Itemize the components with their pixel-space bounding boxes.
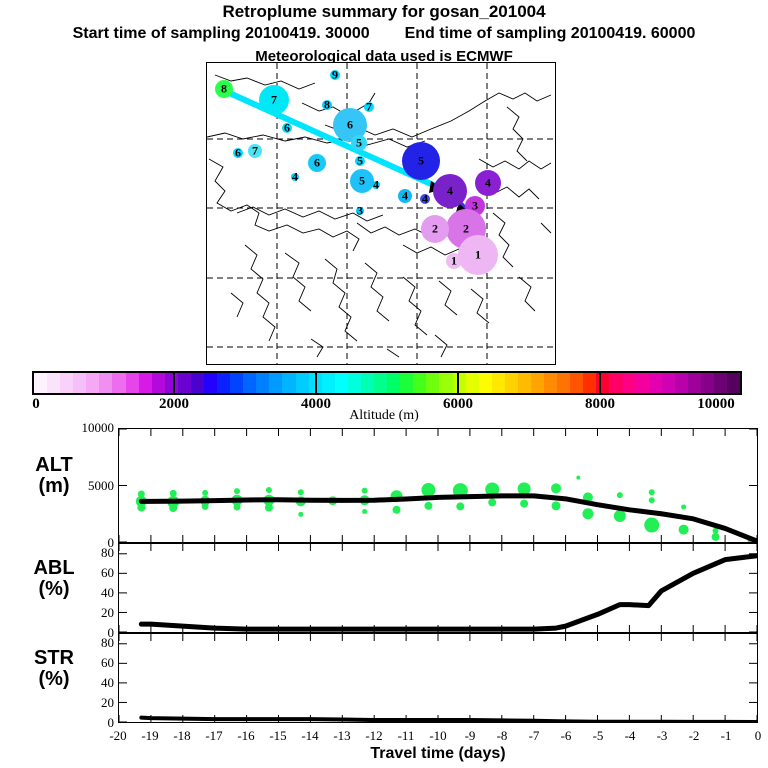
plume-day-label: 1 — [475, 248, 481, 263]
plume-day-label: 7 — [366, 100, 372, 115]
x-tick-label: -4 — [625, 728, 636, 744]
y-tick-label: 80 — [48, 545, 114, 561]
plume-day-label: 8 — [324, 98, 330, 113]
altitude-scatter-point — [234, 503, 241, 510]
colorbar-segment — [649, 373, 662, 393]
colorbar-segment — [439, 373, 452, 393]
plume-day-label: 6 — [284, 121, 290, 136]
x-tick-label: -16 — [237, 728, 254, 744]
x-tick-label: -11 — [398, 728, 415, 744]
plume-day-label: 4 — [292, 170, 298, 185]
x-tick-label: -20 — [109, 728, 126, 744]
y-tick-label: 60 — [48, 655, 114, 671]
x-tick-label: -17 — [205, 728, 222, 744]
altitude-scatter-point — [712, 533, 720, 541]
colorbar-gradient — [32, 371, 742, 395]
altitude-scatter-point — [362, 488, 368, 494]
alt-plot[interactable] — [118, 428, 758, 543]
x-axis-label: Travel time (days) — [118, 745, 758, 763]
retroplume-map[interactable]: 87987665676545453444432211 — [206, 62, 556, 365]
colorbar-segment — [243, 373, 256, 393]
x-tick-label: -12 — [365, 728, 382, 744]
plume-day-label: 3 — [357, 204, 363, 219]
y-tick-label: 40 — [48, 675, 114, 691]
altitude-scatter-point — [202, 490, 208, 496]
altitude-colorbar[interactable] — [32, 371, 742, 395]
colorbar-segment — [256, 373, 269, 393]
altitude-scatter-point — [582, 508, 593, 519]
plot-canvas — [119, 634, 757, 722]
colorbar-divider — [599, 371, 601, 395]
plume-day-label: 5 — [359, 174, 365, 189]
x-tick-label: -8 — [497, 728, 508, 744]
sampling-times: Start time of sampling 20100419. 30000 E… — [0, 25, 768, 43]
colorbar-segment — [34, 373, 47, 393]
plume-day-label: 5 — [418, 154, 424, 169]
plume-day-label: 9 — [332, 68, 338, 83]
plume-day-label: 4 — [422, 192, 428, 207]
colorbar-segment — [73, 373, 86, 393]
colorbar-segment — [296, 373, 309, 393]
colorbar-segment — [426, 373, 439, 393]
colorbar-segment — [727, 373, 740, 393]
colorbar-segment — [47, 373, 60, 393]
x-tick-label: -19 — [141, 728, 158, 744]
mean-trace-line — [141, 718, 757, 722]
altitude-scatter-point — [649, 489, 655, 495]
colorbar-segment — [86, 373, 99, 393]
colorbar-segment — [714, 373, 727, 393]
plume-day-label: 7 — [252, 144, 258, 159]
x-tick-label: 0 — [755, 728, 762, 744]
colorbar-segment — [413, 373, 426, 393]
end-time-label: End time of sampling 20100419. 60000 — [405, 25, 696, 42]
x-tick-label: -9 — [465, 728, 476, 744]
colorbar-segment — [623, 373, 636, 393]
altitude-scatter-point — [424, 502, 432, 510]
altitude-scatter-point — [551, 483, 561, 493]
colorbar-segment — [518, 373, 531, 393]
plume-day-label: 1 — [451, 254, 457, 269]
colorbar-segment — [662, 373, 675, 393]
y-tick-label: 5000 — [48, 478, 114, 494]
colorbar-segment — [557, 373, 570, 393]
plume-markers: 87987665676545453444432211 — [207, 63, 555, 364]
plume-day-label: 2 — [463, 222, 469, 237]
colorbar-segment — [701, 373, 714, 393]
x-tick-label: -3 — [657, 728, 668, 744]
altitude-scatter-point — [679, 525, 689, 535]
x-tick-label: -7 — [529, 728, 540, 744]
altitude-scatter-point — [298, 489, 304, 495]
colorbar-divider — [457, 371, 459, 395]
plume-day-label: 7 — [271, 93, 277, 108]
plume-day-label: 5 — [356, 136, 362, 151]
plume-day-label: 8 — [221, 82, 227, 97]
y-tick-label: 10000 — [48, 420, 114, 436]
altitude-scatter-point — [169, 504, 177, 512]
colorbar-segment — [479, 373, 492, 393]
colorbar-segment — [570, 373, 583, 393]
altitude-scatter-point — [456, 502, 464, 510]
colorbar-segment — [361, 373, 374, 393]
str-plot[interactable] — [118, 633, 758, 723]
plot-canvas — [119, 429, 757, 542]
plume-day-label: 6 — [235, 146, 241, 161]
colorbar-segment — [348, 373, 361, 393]
colorbar-segment — [374, 373, 387, 393]
page-title: Retroplume summary for gosan_201004 — [0, 2, 768, 22]
altitude-scatter-point — [488, 498, 496, 506]
x-tick-label: -10 — [429, 728, 446, 744]
colorbar-segment — [453, 373, 466, 393]
colorbar-segment — [282, 373, 295, 393]
altitude-scatter-point — [170, 490, 177, 497]
x-tick-label: -18 — [173, 728, 190, 744]
altitude-scatter-point — [362, 509, 367, 514]
mean-trace-line — [141, 496, 757, 541]
start-time-label: Start time of sampling 20100419. 30000 — [73, 25, 370, 42]
altitude-scatter-point — [520, 500, 528, 508]
colorbar-segment — [544, 373, 557, 393]
colorbar-segment — [505, 373, 518, 393]
colorbar-segment — [609, 373, 622, 393]
colorbar-segment — [466, 373, 479, 393]
altitude-scatter-point — [421, 483, 435, 497]
altitude-scatter-point — [649, 497, 655, 503]
colorbar-segment — [531, 373, 544, 393]
x-tick-label: -15 — [269, 728, 286, 744]
colorbar-segment — [152, 373, 165, 393]
colorbar-segment — [322, 373, 335, 393]
altitude-scatter-point — [202, 503, 209, 510]
colorbar-divider — [315, 371, 317, 395]
plume-day-label: 4 — [402, 189, 408, 204]
colorbar-segment — [165, 373, 178, 393]
altitude-scatter-point — [644, 518, 659, 533]
plume-day-label: 4 — [447, 184, 453, 199]
altitude-scatter-point — [298, 512, 303, 517]
abl-plot[interactable] — [118, 543, 758, 633]
x-tick-label: -2 — [689, 728, 700, 744]
plume-day-label: 4 — [373, 178, 379, 193]
plume-day-label: 6 — [347, 118, 353, 133]
altitude-scatter-point — [137, 504, 145, 512]
altitude-scatter-point — [393, 506, 401, 514]
altitude-scatter-point — [617, 492, 623, 498]
colorbar-segment — [335, 373, 348, 393]
y-tick-label: 20 — [48, 695, 114, 711]
plot-canvas — [119, 544, 757, 632]
colorbar-segment — [112, 373, 125, 393]
plume-day-label: 4 — [485, 176, 491, 191]
y-tick-label: 60 — [48, 565, 114, 581]
plume-day-label: 6 — [314, 156, 320, 171]
plume-day-label: 5 — [357, 154, 363, 169]
colorbar-segment — [269, 373, 282, 393]
x-tick-label: -14 — [301, 728, 318, 744]
altitude-scatter-point — [266, 487, 272, 493]
colorbar-segment — [217, 373, 230, 393]
colorbar-divider — [173, 371, 175, 395]
y-tick-label: 0 — [48, 715, 114, 731]
y-tick-label: 20 — [48, 605, 114, 621]
colorbar-segment — [60, 373, 73, 393]
colorbar-segment — [126, 373, 139, 393]
y-tick-label: 40 — [48, 585, 114, 601]
colorbar-segment — [400, 373, 413, 393]
x-tick-label: -1 — [721, 728, 732, 744]
x-tick-label: -6 — [561, 728, 572, 744]
colorbar-segment — [191, 373, 204, 393]
altitude-scatter-point — [681, 504, 686, 509]
x-tick-label: -13 — [333, 728, 350, 744]
colorbar-segment — [99, 373, 112, 393]
colorbar-segment — [675, 373, 688, 393]
colorbar-segment — [387, 373, 400, 393]
colorbar-segment — [583, 373, 596, 393]
altitude-scatter-point — [576, 476, 580, 480]
altitude-scatter-point — [265, 504, 273, 512]
colorbar-axis-label: Altitude (m) — [0, 408, 768, 424]
altitude-scatter-point — [138, 490, 145, 497]
y-tick-label: 80 — [48, 635, 114, 651]
colorbar-segment — [688, 373, 701, 393]
plume-day-label: 2 — [432, 222, 438, 237]
altitude-scatter-point — [614, 510, 626, 522]
colorbar-segment — [178, 373, 191, 393]
colorbar-segment — [636, 373, 649, 393]
colorbar-segment — [230, 373, 243, 393]
colorbar-segment — [492, 373, 505, 393]
x-tick-label: -5 — [593, 728, 604, 744]
colorbar-segment — [204, 373, 217, 393]
altitude-scatter-point — [552, 501, 561, 510]
colorbar-segment — [139, 373, 152, 393]
altitude-scatter-point — [234, 488, 240, 494]
mean-trace-line — [141, 556, 757, 629]
